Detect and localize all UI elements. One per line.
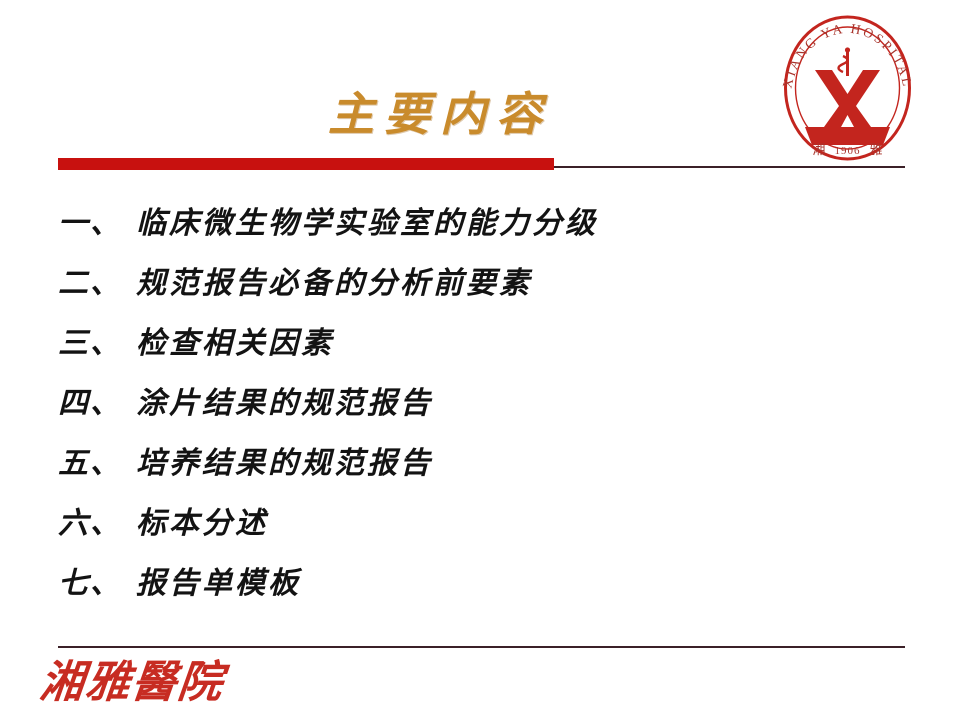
list-item-label: 规范报告必备的分析前要素 [136,258,532,302]
list-item-index: 五、 [58,438,136,482]
slide-canvas: XIANG YA HOSPITAL 1906 湘 雅 主要内容 一、 临床微生物… [0,0,960,720]
list-item[interactable]: 五、 培养结果的规范报告 [58,438,888,498]
list-item-label: 报告单模板 [136,558,301,602]
list-item-label: 检查相关因素 [136,318,334,362]
agenda-list: 一、 临床微生物学实验室的能力分级 二、 规范报告必备的分析前要素 三、 检查相… [58,198,888,618]
list-item-label: 培养结果的规范报告 [136,438,433,482]
list-item[interactable]: 三、 检查相关因素 [58,318,888,378]
svg-text:湘: 湘 [812,143,825,158]
list-item[interactable]: 七、 报告单模板 [58,558,888,618]
list-item[interactable]: 四、 涂片结果的规范报告 [58,378,888,438]
list-item[interactable]: 六、 标本分述 [58,498,888,558]
list-item-index: 三、 [58,318,136,362]
footer-divider [58,646,905,648]
footer-watermark: 湘雅醫院 [37,650,274,716]
list-item-index: 六、 [58,498,136,542]
svg-text:雅: 雅 [869,143,882,158]
list-item-index: 一、 [58,198,136,242]
list-item-index: 七、 [58,558,136,602]
list-item-index: 四、 [58,378,136,422]
list-item-label: 标本分述 [136,498,268,542]
list-item-index: 二、 [58,258,136,302]
list-item-label: 涂片结果的规范报告 [136,378,433,422]
title-underline-bar [58,158,554,170]
page-title: 主要内容 [0,78,880,144]
list-item[interactable]: 一、 临床微生物学实验室的能力分级 [58,198,888,258]
svg-text:1906: 1906 [835,145,861,157]
list-item-label: 临床微生物学实验室的能力分级 [136,198,598,242]
list-item[interactable]: 二、 规范报告必备的分析前要素 [58,258,888,318]
